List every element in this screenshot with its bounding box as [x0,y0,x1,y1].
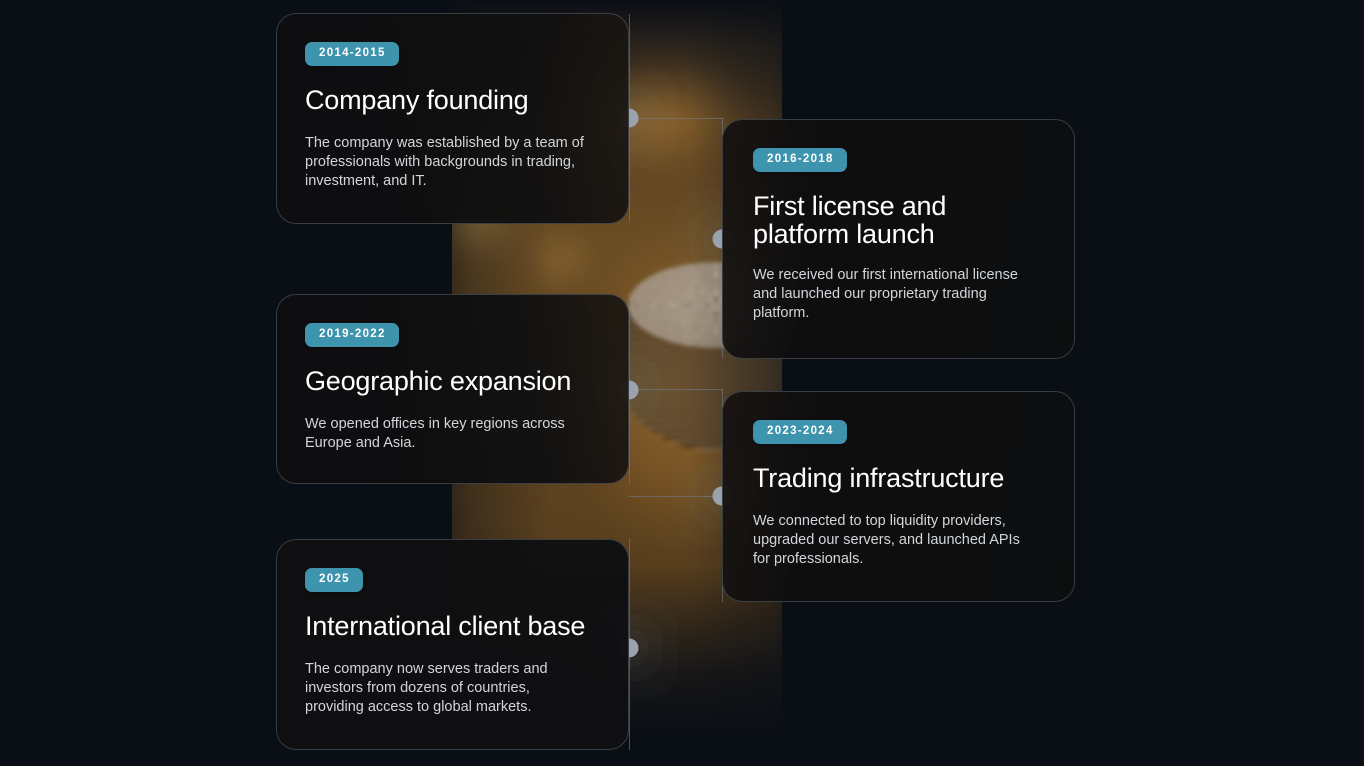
timeline-period-badge: 2014-2015 [305,42,399,66]
timeline-segment [629,389,723,390]
timeline-segment [629,496,723,497]
timeline-card-2016-2018[interactable]: 2016-2018 First license and platform lau… [722,119,1075,359]
timeline-period-badge: 2019-2022 [305,323,399,347]
timeline-card-2023-2024[interactable]: 2023-2024 Trading infrastructure We conn… [722,391,1075,602]
timeline-path [0,0,1364,766]
timeline-card-2025[interactable]: 2025 International client base The compa… [276,539,629,750]
timeline-card-description: The company now serves traders and inves… [305,660,585,717]
timeline-card-description: We connected to top liquidity providers,… [753,512,1040,569]
timeline-period-badge: 2016-2018 [753,148,847,172]
timeline-card-description: The company was established by a team of… [305,134,594,191]
timeline-card-2019-2022[interactable]: 2019-2022 Geographic expansion We opened… [276,294,629,484]
timeline-card-title: International client base [305,612,594,640]
timeline-card-title: Trading infrastructure [753,464,1040,492]
timeline-card-title: Geographic expansion [305,367,594,395]
timeline-period-badge: 2023-2024 [753,420,847,444]
timeline-card-description: We received our first international lice… [753,266,1040,323]
timeline-card-title: Company founding [305,86,594,114]
timeline-period-badge: 2025 [305,568,363,592]
timeline-card-title: First license and platform launch [753,192,1003,249]
timeline-card-2014-2015[interactable]: 2014-2015 Company founding The company w… [276,13,629,224]
timeline-segment [629,118,723,119]
timeline-card-description: We opened offices in key regions across … [305,415,594,453]
